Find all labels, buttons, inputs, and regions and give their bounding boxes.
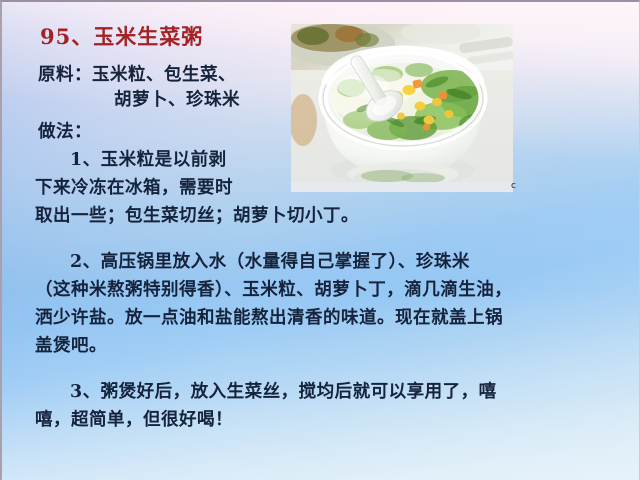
- step-2-line-2: （这种米熬粥特别得香）、玉米粒、胡萝卜丁，滴几滴生油，: [35, 280, 512, 301]
- recipe-slide: c 95、玉米生菜粥 原料：玉米粒、包生菜、 胡萝卜、珍珠米 做法： 1、玉米粒…: [0, 0, 640, 480]
- page-title: 95、玉米生菜粥: [40, 24, 203, 50]
- step-2-line-4: 盖煲吧。: [35, 336, 107, 357]
- method-label: 做法：: [38, 122, 92, 143]
- step-3-line-2: 嘻，超简单，但很好喝！: [35, 410, 233, 431]
- step-1-line-2: 下来冷冻在冰箱，需要时: [35, 178, 233, 199]
- step-2-line-1: 2、高压锅里放入水（水量得自己掌握了）、珍珠米: [70, 252, 470, 273]
- ingredients-line-1: 原料：玉米粒、包生菜、: [38, 65, 236, 86]
- step-3-line-1: 3、粥煲好后，放入生菜丝，搅均后就可以享用了，嘻: [70, 382, 497, 403]
- step-1-line-3: 取出一些；包生菜切丝；胡萝卜切小丁。: [35, 206, 359, 227]
- ingredients-line-2: 胡萝卜、珍珠米: [114, 90, 240, 111]
- step-1-line-1: 1、玉米粒是以前剥: [70, 150, 227, 171]
- step-2-line-3: 洒少许盐。放一点油和盐能熬出清香的味道。现在就盖上锅: [35, 308, 503, 329]
- slide-text-content: 95、玉米生菜粥 原料：玉米粒、包生菜、 胡萝卜、珍珠米 做法： 1、玉米粒是以…: [2, 2, 640, 480]
